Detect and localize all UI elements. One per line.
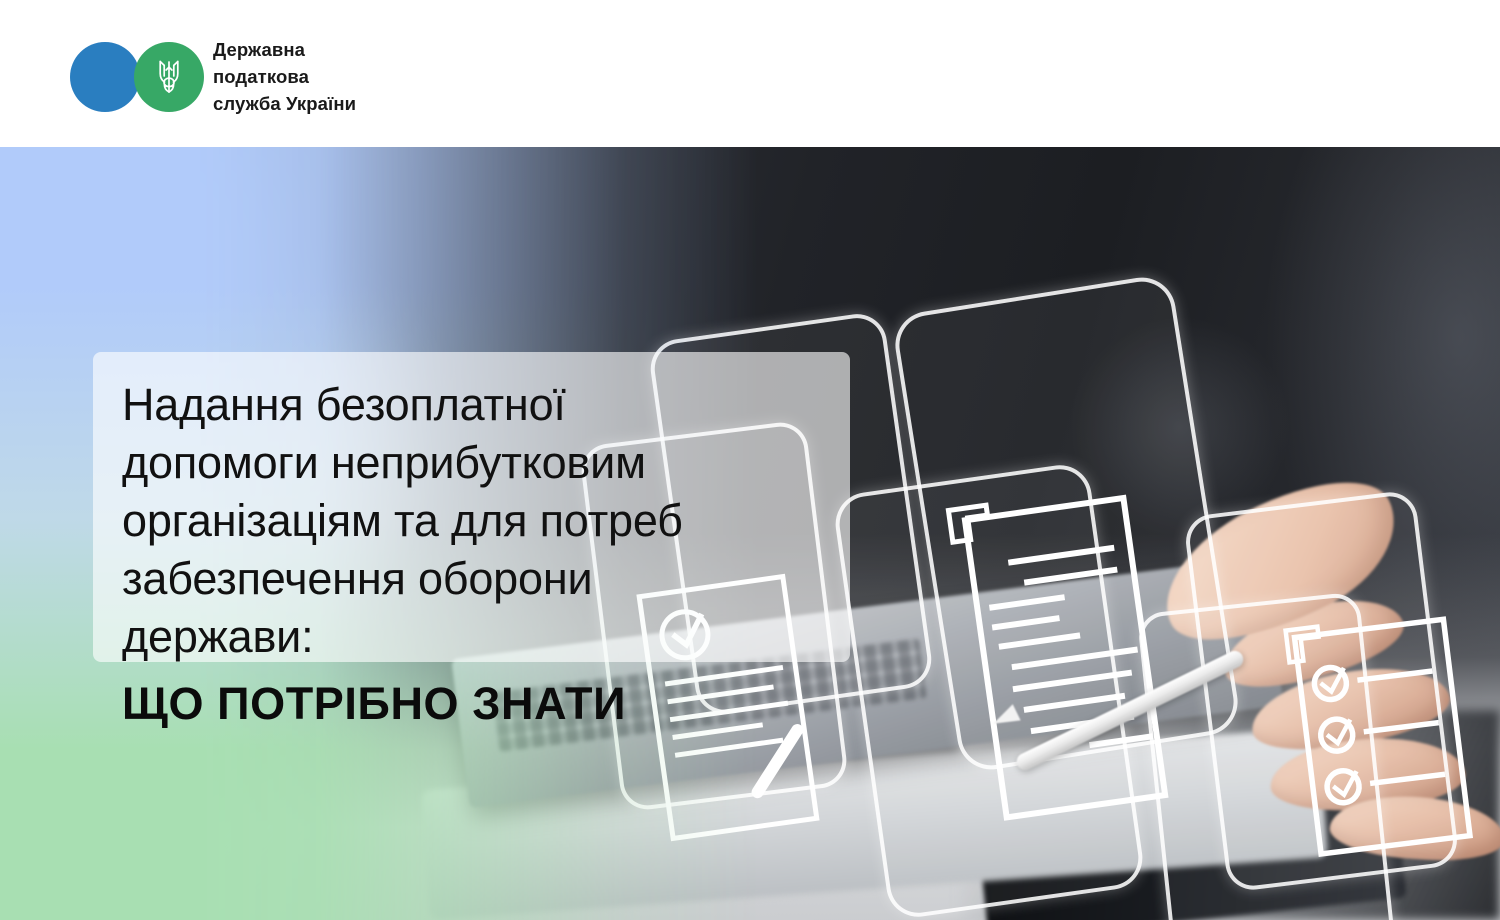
document-checklist-icon — [1264, 593, 1500, 892]
headline-line-5: держави: — [122, 608, 862, 666]
headline-line-2: допомоги неприбутковим — [122, 434, 862, 492]
logo-marks — [70, 39, 205, 115]
agency-logo[interactable]: Державна податкова служба України — [70, 36, 356, 118]
headline-line-3: організаціям та для потреб — [122, 492, 862, 550]
headline-line-4: забезпечення оборони — [122, 550, 862, 608]
logo-text-line-3: служба України — [213, 90, 356, 117]
logo-blue-circle-icon — [70, 42, 140, 112]
agency-logo-text: Державна податкова служба України — [213, 36, 356, 118]
poster-root: Державна податкова служба України — [0, 0, 1500, 920]
document-upload-icon — [902, 430, 1238, 885]
logo-text-line-1: Державна — [213, 36, 356, 63]
logo-green-circle-icon — [134, 42, 204, 112]
headline-line-1: Надання безоплатної — [122, 376, 862, 434]
ukraine-trident-icon — [154, 56, 184, 98]
page-title: Надання безоплатної допомоги неприбутков… — [122, 376, 862, 666]
site-header: Державна податкова служба України — [0, 0, 1500, 147]
logo-text-line-2: податкова — [213, 63, 356, 90]
page-subtitle: ЩО ПОТРІБНО ЗНАТИ — [122, 681, 626, 726]
